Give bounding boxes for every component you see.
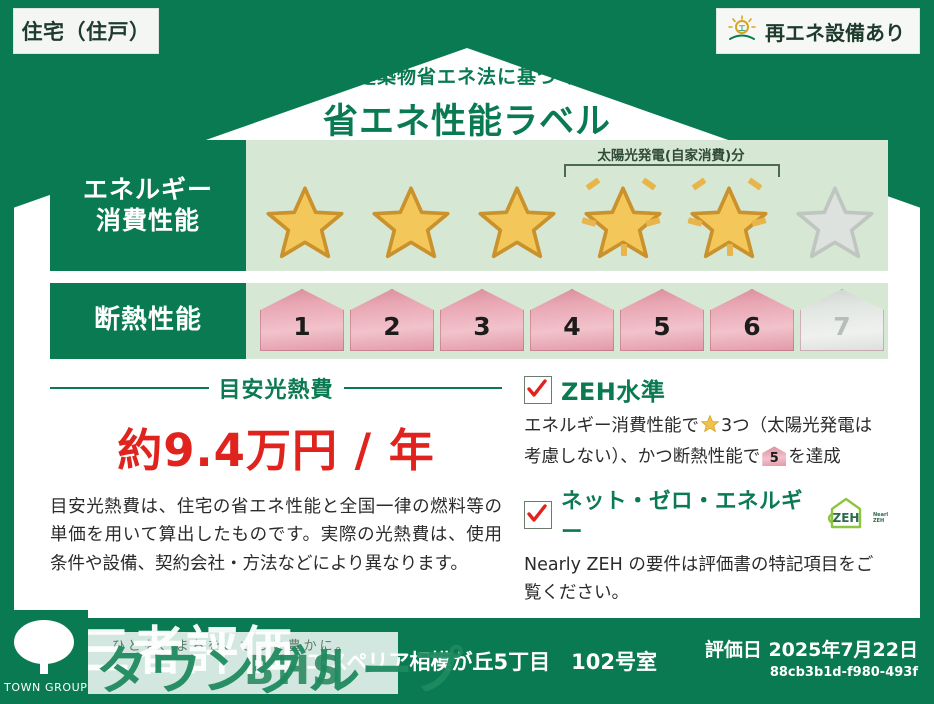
insulation-house-filled: 2 bbox=[350, 289, 434, 351]
star-rating bbox=[262, 175, 878, 267]
building-type-badge: 住宅（住戸） bbox=[13, 8, 159, 54]
star-icon-filled bbox=[686, 175, 772, 267]
checkbox-checked-icon-2 bbox=[524, 501, 552, 529]
zeh-column: ZEH水準 エネルギー消費性能で3つ（太陽光発電は考慮しない）、かつ断熱性能で5… bbox=[502, 372, 888, 607]
cost-heading: 目安光熱費 bbox=[50, 372, 502, 404]
cost-description: 目安光熱費は、住宅の省エネ性能と全国一律の燃料等の単価を用いて算出したものです。… bbox=[50, 493, 502, 578]
insulation-performance-row: 断熱性能 1234567 bbox=[50, 283, 888, 359]
insulation-house-filled: 1 bbox=[260, 289, 344, 351]
heading-rule-left bbox=[50, 387, 209, 389]
town-group-label: TOWN GROUP bbox=[4, 681, 88, 694]
renewable-equipment-badge: エ 再エネ設備あり bbox=[716, 8, 920, 54]
title-subtitle: 建築物省エネ法に基づく bbox=[0, 62, 934, 89]
evaluation-date: 評価日 2025年7月22日 bbox=[705, 635, 918, 662]
insulation-house-filled: 3 bbox=[440, 289, 524, 351]
star-icon-empty bbox=[792, 175, 878, 267]
zeh-standard-heading: ZEH水準 bbox=[524, 372, 888, 407]
solar-sun-icon: エ bbox=[727, 15, 757, 47]
star-icon-filled bbox=[262, 175, 348, 267]
star-icon-filled bbox=[368, 175, 454, 267]
insulation-house-filled: 4 bbox=[530, 289, 614, 351]
insulation-houses-panel: 1234567 bbox=[246, 283, 888, 359]
title-block: 建築物省エネ法に基づく 省エネ性能ラベル bbox=[0, 62, 934, 144]
renewable-badge-label: 再エネ設備あり bbox=[765, 17, 905, 46]
solar-note-label: 太陽光発電(自家消費)分 bbox=[546, 144, 796, 164]
lower-section: 目安光熱費 約9.4万円 / 年 目安光熱費は、住宅の省エネ性能と全国一律の燃料… bbox=[50, 372, 888, 607]
footer-bar: エスペリア相模が丘5丁目 102号室 評価日 2025年7月22日 88cb3b… bbox=[0, 618, 934, 702]
insulation-house-filled: 5 bbox=[620, 289, 704, 351]
star-icon-inline bbox=[700, 414, 720, 443]
solar-sparkle-mark bbox=[727, 244, 733, 256]
net-zero-heading: ネット・ゼロ・エネルギー ZEH Nearly ZEH bbox=[524, 484, 888, 546]
svg-text:ZEH: ZEH bbox=[833, 511, 860, 525]
watermark-text-back: 第三者評価 bbox=[24, 609, 294, 684]
zeh-text-c: を達成 bbox=[788, 447, 841, 467]
town-group-logo: TOWN GROUP bbox=[0, 610, 88, 702]
evaluation-meta: 評価日 2025年7月22日 88cb3b1d-f980-493f bbox=[705, 635, 918, 680]
solar-sparkle-mark bbox=[621, 244, 627, 256]
zeh-standard-description: エネルギー消費性能で3つ（太陽光発電は考慮しない）、かつ断熱性能で5を達成 bbox=[524, 412, 888, 472]
estimated-cost-value: 約9.4万円 / 年 bbox=[50, 414, 502, 479]
house-icon-inline: 5 bbox=[762, 446, 786, 466]
insulation-performance-label: 断熱性能 bbox=[50, 283, 246, 359]
star-icon-filled bbox=[580, 175, 666, 267]
insulation-scale: 1234567 bbox=[260, 289, 876, 351]
zeh-house-logo-icon: ZEH Nearly ZEH bbox=[826, 496, 888, 534]
insulation-house-empty: 7 bbox=[800, 289, 884, 351]
property-address: エスペリア相模が丘5丁目 102号室 bbox=[306, 646, 657, 676]
evaluation-id: 88cb3b1d-f980-493f bbox=[705, 665, 918, 680]
rating-rows: エネルギー 消費性能 太陽光発電(自家消費)分 断熱性能 1234567 bbox=[50, 140, 888, 359]
net-zero-description: Nearly ZEH の要件は評価書の特記項目をご覧ください。 bbox=[524, 551, 888, 608]
checkbox-checked-icon bbox=[524, 376, 552, 404]
zeh-standard-title: ZEH水準 bbox=[561, 372, 665, 407]
star-icon-filled bbox=[474, 175, 560, 267]
zeh-star-count: 3つ bbox=[721, 416, 750, 436]
heading-rule-right bbox=[344, 387, 503, 389]
energy-label-root: 住宅（住戸） エ 再エネ設備あり 建築物省エネ法に基づく 省エネ性能ラベル エ bbox=[0, 0, 934, 702]
energy-stars-panel: 太陽光発電(自家消費)分 bbox=[246, 140, 888, 271]
page-title: 省エネ性能ラベル bbox=[0, 93, 934, 144]
energy-performance-row: エネルギー 消費性能 太陽光発電(自家消費)分 bbox=[50, 140, 888, 271]
energy-performance-label: エネルギー 消費性能 bbox=[50, 140, 246, 271]
insulation-house-filled: 6 bbox=[710, 289, 794, 351]
zeh-text-a: エネルギー消費性能で bbox=[524, 416, 699, 436]
svg-text:ZEH: ZEH bbox=[873, 518, 884, 524]
net-zero-title: ネット・ゼロ・エネルギー bbox=[561, 484, 811, 546]
cost-heading-label: 目安光熱費 bbox=[219, 372, 334, 404]
svg-text:エ: エ bbox=[738, 24, 746, 33]
cost-column: 目安光熱費 約9.4万円 / 年 目安光熱費は、住宅の省エネ性能と全国一律の燃料… bbox=[50, 372, 502, 607]
